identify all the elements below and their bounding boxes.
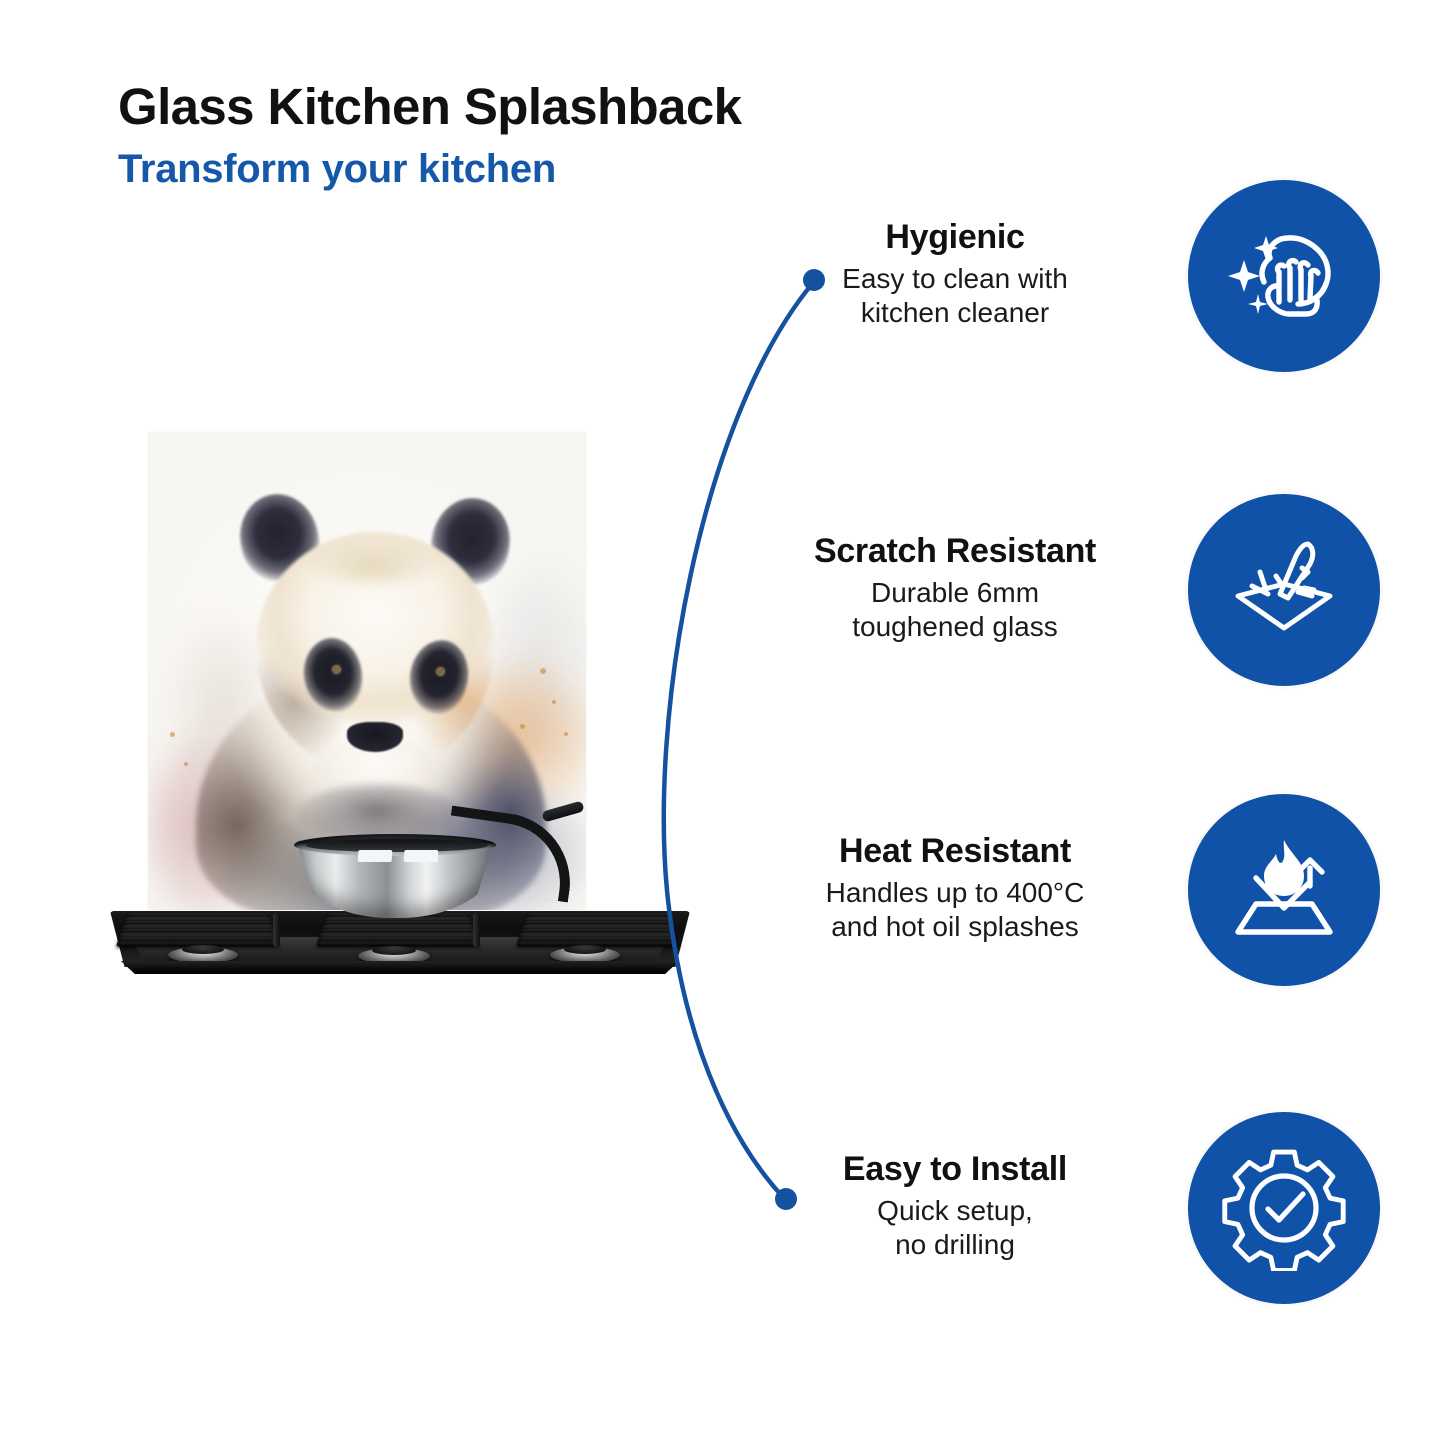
flame-shape xyxy=(1264,840,1304,896)
panda-pupil-right xyxy=(436,667,445,676)
feature-description-line-1: Quick setup, xyxy=(760,1194,1150,1228)
feature-text-block: Hygienic Easy to clean with kitchen clea… xyxy=(760,218,1150,334)
finger-4 xyxy=(1310,276,1311,298)
feature-easy-to-install: Easy to Install Quick setup, no drilling xyxy=(760,1108,1380,1308)
hob-grate-right xyxy=(516,914,680,947)
feature-description-line-1: Easy to clean with xyxy=(760,262,1150,296)
paint-speck xyxy=(540,668,546,674)
hob-base-edge xyxy=(118,961,682,974)
feature-text-block: Scratch Resistant Durable 6mm toughened … xyxy=(760,532,1150,648)
page-subtitle: Transform your kitchen xyxy=(118,148,741,190)
hob-burner-cap xyxy=(372,946,416,955)
cleaning-hand-sparkle-icon xyxy=(1188,180,1380,372)
impact-ray-3 xyxy=(1276,576,1280,582)
paint-speck xyxy=(552,700,556,704)
feature-text-block: Easy to Install Quick setup, no drilling xyxy=(760,1150,1150,1266)
feature-description-line-1: Durable 6mm xyxy=(760,576,1150,610)
feature-title: Hygienic xyxy=(760,218,1150,256)
page-header: Glass Kitchen Splashback Transform your … xyxy=(118,80,741,190)
gear-inner-circle xyxy=(1252,1176,1316,1240)
hob-grate-left xyxy=(116,914,280,947)
feature-description-line-1: Handles up to 400°C xyxy=(760,876,1150,910)
check-mark xyxy=(1268,1194,1303,1220)
feature-description-line-2: kitchen cleaner xyxy=(760,296,1150,330)
paint-speck xyxy=(170,732,175,737)
impact-ray-4 xyxy=(1304,588,1314,590)
cloth-edge xyxy=(1262,258,1270,282)
finger-tip-3 xyxy=(1300,263,1308,270)
sparkle-large xyxy=(1228,260,1260,292)
knife-impact-surface-icon xyxy=(1188,494,1380,686)
feature-title: Heat Resistant xyxy=(760,832,1150,870)
finger-tip-4 xyxy=(1311,270,1318,276)
pan-interior xyxy=(306,839,488,852)
feature-heat-resistant: Heat Resistant Handles up to 400°C and h… xyxy=(760,790,1380,990)
pan-highlight xyxy=(358,850,393,862)
panda-pupil-left xyxy=(332,665,341,674)
hob-burner-cap xyxy=(182,945,224,954)
feature-description-line-2: and hot oil splashes xyxy=(760,910,1150,944)
feature-hygienic: Hygienic Easy to clean with kitchen clea… xyxy=(760,176,1380,376)
paint-speck xyxy=(184,762,188,766)
sparkle-small xyxy=(1248,294,1268,314)
flame-deflect-arrow-icon xyxy=(1188,794,1380,986)
product-scene xyxy=(100,420,700,1000)
feature-title: Easy to Install xyxy=(760,1150,1150,1188)
paint-speck xyxy=(564,732,568,736)
page-title: Glass Kitchen Splashback xyxy=(118,80,741,134)
stainless-steel-pan xyxy=(296,828,526,924)
paint-speck xyxy=(520,724,525,729)
impact-ray-1 xyxy=(1260,572,1266,590)
feature-title: Scratch Resistant xyxy=(760,532,1150,570)
panda-forehead-wash xyxy=(308,536,438,584)
feature-scratch-resistant: Scratch Resistant Durable 6mm toughened … xyxy=(760,490,1380,690)
feature-description-line-2: no drilling xyxy=(760,1228,1150,1262)
hob-grate-divider xyxy=(273,913,280,947)
gear-check-icon xyxy=(1188,1112,1380,1304)
feature-description-line-2: toughened glass xyxy=(760,610,1150,644)
finger-tip-2 xyxy=(1289,261,1296,268)
finger-tip-1 xyxy=(1278,265,1284,272)
feature-text-block: Heat Resistant Handles up to 400°C and h… xyxy=(760,832,1150,948)
hob-burner-cap xyxy=(564,945,606,954)
pan-highlight xyxy=(404,850,439,862)
